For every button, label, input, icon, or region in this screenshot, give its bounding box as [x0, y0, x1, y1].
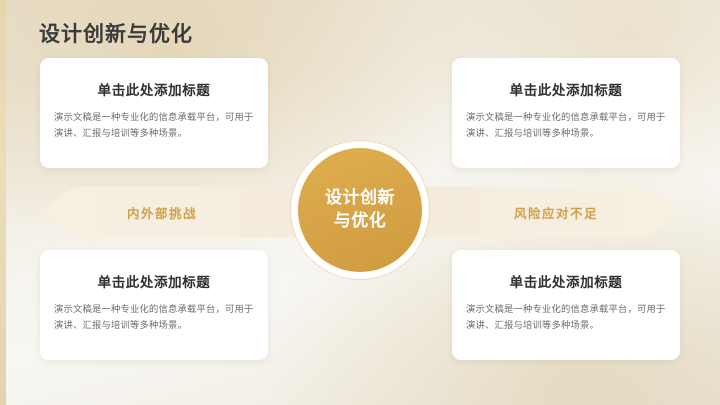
card-top-left[interactable]: 单击此处添加标题 演示文稿是一种专业化的信息承载平台，可用于演讲、汇报与培训等多…: [40, 58, 268, 168]
card-title: 单击此处添加标题: [54, 79, 254, 99]
card-body: 演示文稿是一种专业化的信息承载平台，可用于演讲、汇报与培训等多种场景。: [466, 109, 666, 142]
slide-canvas: 设计创新与优化 内外部挑战 风险应对不足 设计创新 与优化 单击此处添加标题 演…: [0, 0, 720, 405]
left-accent-strip: [0, 0, 6, 405]
arrow-left-label: 内外部挑战: [72, 203, 252, 222]
card-title: 单击此处添加标题: [466, 271, 666, 291]
center-circle-label: 设计创新 与优化: [325, 187, 395, 233]
card-bottom-right[interactable]: 单击此处添加标题 演示文稿是一种专业化的信息承载平台，可用于演讲、汇报与培训等多…: [452, 250, 680, 360]
card-title: 单击此处添加标题: [54, 271, 254, 291]
arrow-right-label: 风险应对不足: [466, 203, 646, 222]
card-body: 演示文稿是一种专业化的信息承载平台，可用于演讲、汇报与培训等多种场景。: [54, 301, 254, 334]
card-bottom-left[interactable]: 单击此处添加标题 演示文稿是一种专业化的信息承载平台，可用于演讲、汇报与培训等多…: [40, 250, 268, 360]
card-body: 演示文稿是一种专业化的信息承载平台，可用于演讲、汇报与培训等多种场景。: [54, 109, 254, 142]
page-title: 设计创新与优化: [39, 22, 193, 47]
center-circle[interactable]: 设计创新 与优化: [298, 148, 422, 272]
card-top-right[interactable]: 单击此处添加标题 演示文稿是一种专业化的信息承载平台，可用于演讲、汇报与培训等多…: [452, 58, 680, 168]
card-title: 单击此处添加标题: [466, 79, 666, 99]
card-body: 演示文稿是一种专业化的信息承载平台，可用于演讲、汇报与培训等多种场景。: [466, 301, 666, 334]
